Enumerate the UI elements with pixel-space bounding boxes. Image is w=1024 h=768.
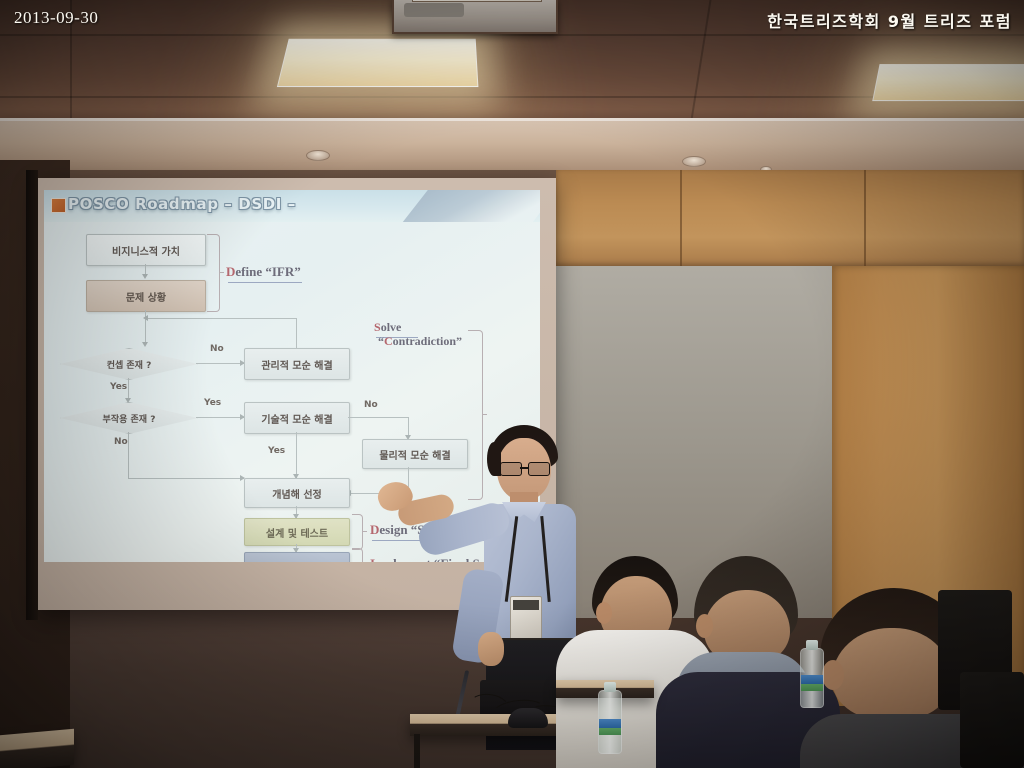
brace-tick (219, 272, 224, 273)
projection-screen-left-edge (26, 170, 38, 620)
node-managerial-contradiction: 관리적 모순 해결 (244, 348, 350, 380)
phase-define-rest: efine “IFR” (235, 264, 300, 279)
audience-ear (822, 660, 844, 690)
phase-solve-rest: olve (381, 320, 402, 334)
water-bottle (598, 690, 622, 754)
edge-label-concept-yes: Yes (110, 382, 127, 392)
ceiling-seam (0, 34, 1024, 36)
flow-line (296, 432, 297, 478)
flow-arrow-icon (143, 315, 148, 321)
phase-label-solve-line2: “Contradiction” (378, 334, 462, 349)
ceiling-speaker-icon (682, 156, 706, 167)
badge-header-bar (513, 600, 539, 610)
cable-hub-device (508, 708, 548, 728)
glasses-lens-left (500, 462, 522, 476)
edge-label-tech-no: No (364, 400, 378, 410)
bottle-label (599, 719, 621, 735)
projector-lens (404, 3, 464, 17)
audience-ear (596, 602, 612, 624)
ceiling-light-panel-left (277, 39, 479, 87)
brace-implement-phase (352, 548, 363, 562)
flow-line (348, 417, 408, 418)
flow-line (128, 378, 129, 400)
edge-label-concept-no: No (210, 344, 224, 354)
bottle-cap (604, 682, 616, 692)
ceiling-speaker-icon (306, 150, 330, 161)
orange-square-bullet-icon (51, 198, 66, 213)
node-technical-contradiction: 기술적 모순 해결 (244, 402, 350, 434)
node-concept-solution-select: 개념해 선정 (244, 478, 350, 508)
wall-panel-seam (864, 170, 866, 266)
event-caption: 한국트리즈학회 9월 트리즈 포럼 (767, 8, 1012, 32)
audience-ear (696, 614, 713, 638)
wall-panel-seam (680, 170, 682, 266)
flow-arrow-icon (142, 342, 148, 347)
bottle-cap (806, 640, 818, 650)
flow-arrow-icon (142, 274, 148, 279)
flow-line (128, 432, 129, 478)
flow-line (145, 318, 297, 319)
flow-line (196, 363, 244, 364)
brace-define-phase (207, 234, 220, 312)
phase-label-solve-line1: Solve (374, 320, 401, 335)
brace-tick (362, 531, 367, 532)
flow-line (128, 478, 244, 479)
glasses-lens-right (528, 462, 550, 476)
slide-title: POSCO Roadmap – DSDI – (68, 195, 296, 213)
table-left (0, 729, 74, 768)
phase-design-initial: D (370, 522, 379, 537)
ceiling-light-panel-right (872, 64, 1024, 101)
slide-header-band: POSCO Roadmap – DSDI – (44, 190, 540, 222)
brace-design-phase (352, 514, 363, 550)
presenter-pointer-device (455, 670, 469, 720)
node-business-value: 비지니스적 가치 (86, 234, 206, 266)
ceiling-projector (392, 0, 558, 34)
slide-header-diagonal-decoration (392, 190, 540, 222)
phase-solve-initial: S (374, 320, 381, 334)
decision-side-effect-exists: 부작용 존재 ? (60, 402, 198, 434)
water-bottle (800, 648, 824, 708)
flow-line (296, 318, 297, 348)
presenter-name-badge (510, 596, 542, 642)
glasses-bridge (520, 467, 528, 469)
presenter-glasses-icon (500, 462, 548, 474)
flow-line (196, 417, 244, 418)
node-problem-situation: 문제 상황 (86, 280, 206, 312)
presenter-hair-side (487, 442, 501, 476)
edge-label-side-effect-yes: Yes (204, 398, 221, 408)
soffit-edge-highlight (0, 118, 1024, 121)
phase-contradiction-rest: ontradiction” (393, 334, 462, 348)
flow-line (408, 417, 409, 437)
date-stamp: 2013-09-30 (14, 8, 98, 28)
node-design-and-test: 설계 및 테스트 (244, 518, 350, 546)
edge-label-tech-yes: Yes (268, 446, 285, 456)
chair-front-right (960, 672, 1024, 768)
bottle-label (801, 675, 823, 691)
audience-head (832, 628, 952, 720)
node-execute-and-evaluate: 실행 및 평가 (244, 552, 350, 562)
phase-define-initial: D (226, 264, 235, 279)
phase-contradiction-initial: C (384, 334, 393, 348)
brace-tick (482, 414, 487, 415)
conference-photo: POSCO Roadmap – DSDI – 비지니스적 가치 문제 상황 De… (0, 0, 1024, 768)
wall-wood-panel-upper (556, 170, 1024, 266)
edge-label-side-effect-no: No (114, 437, 128, 447)
ceiling-seam (0, 96, 1024, 98)
projector-housing-panel (412, 0, 542, 2)
table-leg (414, 734, 420, 768)
presenter-hand-holding-pointer (478, 632, 504, 666)
decision-concept-exists: 컨셉 존재 ? (60, 348, 198, 380)
phase-label-define: Define “IFR” (226, 264, 301, 280)
phase-underline (228, 282, 302, 283)
